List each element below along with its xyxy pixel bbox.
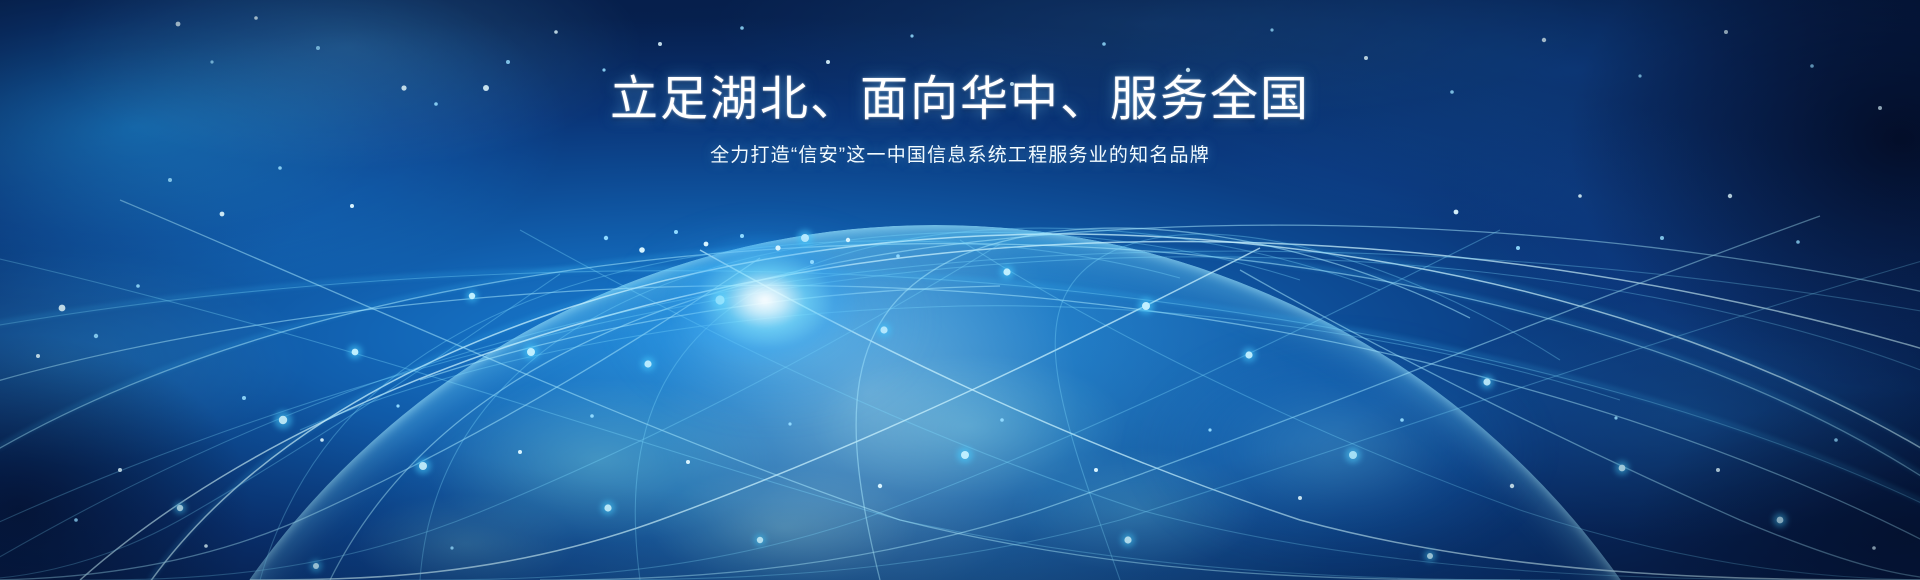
banner-copy: 立足湖北、面向华中、服务全国 全力打造“信安”这一中国信息系统工程服务业的知名品… [0,72,1920,169]
hero-banner: 立足湖北、面向华中、服务全国 全力打造“信安”这一中国信息系统工程服务业的知名品… [0,0,1920,580]
banner-headline: 立足湖北、面向华中、服务全国 [0,72,1920,129]
banner-subheadline: 全力打造“信安”这一中国信息系统工程服务业的知名品牌 [0,143,1920,170]
